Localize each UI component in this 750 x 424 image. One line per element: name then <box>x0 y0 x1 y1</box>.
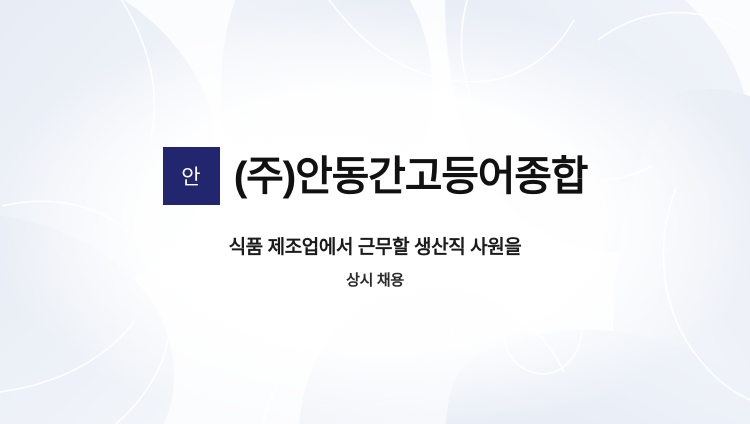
company-title-row: 안 (주)안동간고등어종합 <box>0 147 750 205</box>
job-description-line: 식품 제조업에서 근무할 생산직 사원을 <box>0 236 750 261</box>
banner-content: 안 (주)안동간고등어종합 식품 제조업에서 근무할 생산직 사원을 상시 채용 <box>0 0 750 424</box>
recruitment-banner: 안 (주)안동간고등어종합 식품 제조업에서 근무할 생산직 사원을 상시 채용 <box>0 0 750 424</box>
company-initial-badge: 안 <box>163 147 220 205</box>
company-name: (주)안동간고등어종합 <box>234 156 588 197</box>
subtitle-block: 식품 제조업에서 근무할 생산직 사원을 상시 채용 <box>0 236 750 290</box>
hiring-type-line: 상시 채용 <box>0 271 750 291</box>
